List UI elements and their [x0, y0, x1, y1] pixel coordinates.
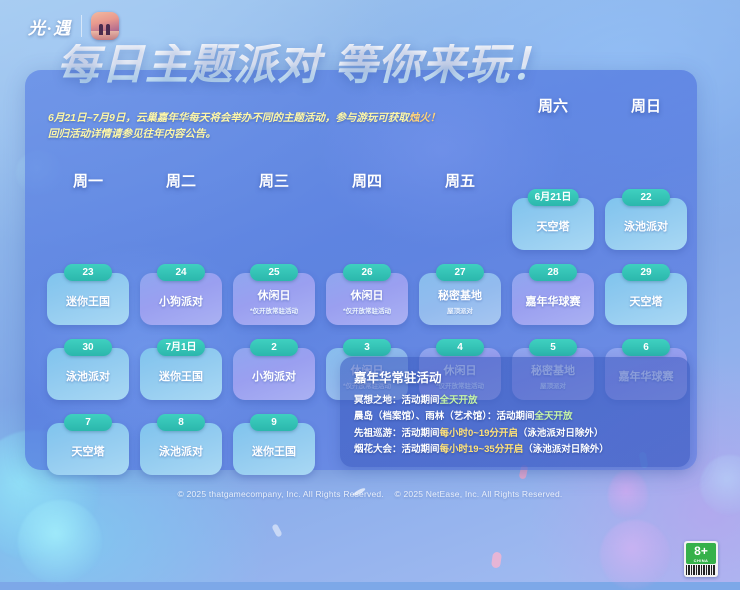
event-card[interactable]: 9迷你王国	[233, 423, 315, 475]
weekday-label-4: 周四	[326, 170, 408, 191]
light-streak	[271, 523, 282, 537]
weekday-label-7: 周日	[605, 95, 687, 116]
permanent-activities-title: 嘉年华常驻活动	[354, 367, 676, 386]
date-badge: 7月1日	[157, 339, 205, 356]
event-card[interactable]: 6月21日天空塔	[512, 198, 594, 250]
permanent-activities-list: 冥想之地：活动期间全天开放晨岛（档案馆）、雨林（艺术馆）：活动期间全天开放先祖巡…	[354, 393, 676, 458]
weekday-label-3: 周三	[233, 170, 315, 191]
event-title: 天空塔	[72, 446, 105, 459]
calendar-cell[interactable]: 7月1日迷你王国	[140, 348, 222, 400]
rating-green-block: 8+ CHINA	[686, 543, 716, 564]
event-card[interactable]: 28嘉年华球赛	[512, 273, 594, 325]
event-card[interactable]: 7月1日迷你王国	[140, 348, 222, 400]
logo-divider	[81, 15, 82, 37]
date-badge: 7	[64, 414, 112, 431]
description-line-2: 回归活动详情请参见往年内容公告。	[48, 126, 478, 142]
description-highlight: 烛火！	[409, 112, 441, 124]
date-badge: 22	[622, 189, 670, 206]
event-title: 休闲日	[258, 290, 291, 303]
event-subtitle: *仅开放常驻活动	[343, 305, 391, 315]
event-title: 迷你王国	[159, 371, 203, 384]
calendar-cell[interactable]: 26休闲日*仅开放常驻活动	[326, 273, 408, 325]
event-title: 天空塔	[630, 296, 663, 309]
game-logo[interactable]: 光·遇	[28, 14, 72, 39]
event-card[interactable]: 8泳池派对	[140, 423, 222, 475]
event-title: 天空塔	[537, 221, 570, 234]
calendar-cell[interactable]: 28嘉年华球赛	[512, 273, 594, 325]
event-title: 泳池派对	[624, 221, 668, 234]
date-badge: 25	[250, 264, 298, 281]
bokeh-orb	[700, 455, 740, 515]
event-card[interactable]: 30泳池派对	[47, 348, 129, 400]
activity-label: 先祖巡游：活动期间	[354, 428, 440, 439]
date-badge: 4	[436, 339, 484, 356]
event-card[interactable]: 25休闲日*仅开放常驻活动	[233, 273, 315, 325]
event-description: 6月21日~7月9日，云巢嘉年华每天将会举办不同的主题活动，参与游玩可获取烛火！…	[48, 110, 478, 143]
icon-figure	[99, 24, 103, 35]
event-card[interactable]: 7天空塔	[47, 423, 129, 475]
rating-barcode-icon	[686, 565, 716, 575]
age-rating-badge: 8+ CHINA	[684, 541, 718, 577]
rating-region-label: CHINA	[694, 558, 709, 563]
permanent-activity-row: 冥想之地：活动期间全天开放	[354, 393, 676, 409]
copyright-thatgamecompany: © 2025 thatgamecompany, Inc. All Rights …	[178, 489, 384, 499]
activity-schedule-highlight: 每小时0~19分开启	[440, 428, 518, 439]
date-badge: 2	[250, 339, 298, 356]
rating-age-label: 8+	[694, 545, 708, 557]
activity-label: 冥想之地：活动期间	[354, 395, 440, 406]
light-streak	[491, 551, 502, 568]
weekday-label-2: 周二	[140, 170, 222, 191]
calendar-cell[interactable]: 25休闲日*仅开放常驻活动	[233, 273, 315, 325]
event-title: 迷你王国	[66, 296, 110, 309]
calendar-cell[interactable]: 23迷你王国	[47, 273, 129, 325]
calendar-cell[interactable]: 6月21日天空塔	[512, 198, 594, 250]
event-title: 秘密基地	[438, 290, 482, 303]
date-badge: 28	[529, 264, 577, 281]
calendar-cell[interactable]: 24小狗派对	[140, 273, 222, 325]
icon-glow	[91, 31, 119, 40]
calendar-cell[interactable]: 2小狗派对	[233, 348, 315, 400]
calendar-cell[interactable]: 9迷你王国	[233, 423, 315, 475]
event-card[interactable]: 2小狗派对	[233, 348, 315, 400]
event-card[interactable]: 22泳池派对	[605, 198, 687, 250]
event-title: 泳池派对	[159, 446, 203, 459]
date-badge: 23	[64, 264, 112, 281]
icon-figure	[106, 24, 110, 35]
calendar-cell[interactable]: 8泳池派对	[140, 423, 222, 475]
calendar-cell[interactable]: 22泳池派对	[605, 198, 687, 250]
event-card[interactable]: 26休闲日*仅开放常驻活动	[326, 273, 408, 325]
permanent-activity-row: 晨岛（档案馆）、雨林（艺术馆）：活动期间全天开放	[354, 409, 676, 425]
activity-schedule-highlight: 全天开放	[535, 411, 573, 422]
date-badge: 9	[250, 414, 298, 431]
weekday-label-5: 周五	[419, 170, 501, 191]
date-badge: 6月21日	[528, 189, 579, 206]
date-badge: 26	[343, 264, 391, 281]
activity-label: 晨岛（档案馆）、雨林（艺术馆）：活动期间	[354, 411, 535, 422]
event-card[interactable]: 23迷你王国	[47, 273, 129, 325]
bokeh-orb	[18, 500, 102, 584]
event-title: 嘉年华球赛	[526, 296, 581, 309]
date-badge: 30	[64, 339, 112, 356]
calendar-cell[interactable]: 27秘密基地屋顶派对	[419, 273, 501, 325]
date-badge: 3	[343, 339, 391, 356]
brand-header: 光·遇	[28, 10, 119, 42]
event-title: 休闲日	[351, 290, 384, 303]
activity-label: 烟花大会：活动期间	[354, 444, 440, 455]
description-text: 6月21日~7月9日，云巢嘉年华每天将会举办不同的主题活动，参与游玩可获取	[48, 112, 409, 124]
event-subtitle: 屋顶派对	[447, 305, 473, 315]
event-title: 泳池派对	[66, 371, 110, 384]
event-title: 小狗派对	[159, 296, 203, 309]
event-card[interactable]: 29天空塔	[605, 273, 687, 325]
date-badge: 27	[436, 264, 484, 281]
activity-schedule-highlight: 全天开放	[440, 395, 478, 406]
copyright-netease: © 2025 NetEase, Inc. All Rights Reserved…	[394, 489, 562, 499]
permanent-activity-row: 烟花大会：活动期间每小时19~35分开启（泳池派对日除外）	[354, 442, 676, 458]
weekday-label-6: 周六	[512, 95, 594, 116]
description-line-1: 6月21日~7月9日，云巢嘉年华每天将会举办不同的主题活动，参与游玩可获取烛火！	[48, 110, 478, 126]
calendar-cell[interactable]: 29天空塔	[605, 273, 687, 325]
permanent-activity-row: 先祖巡游：活动期间每小时0~19分开启（泳池派对日除外）	[354, 426, 676, 442]
date-badge: 5	[529, 339, 577, 356]
date-badge: 24	[157, 264, 205, 281]
footer-copyright: © 2025 thatgamecompany, Inc. All Rights …	[0, 489, 740, 499]
activity-schedule-highlight: 每小时19~35分开启	[440, 444, 524, 455]
bokeh-orb	[600, 520, 670, 590]
activity-note: （泳池派对日除外）	[523, 444, 609, 455]
sky-app-icon[interactable]	[91, 12, 119, 40]
event-subtitle: *仅开放常驻活动	[250, 305, 298, 315]
event-title: 小狗派对	[252, 371, 296, 384]
activity-note: （泳池派对日除外）	[518, 428, 604, 439]
page-title: 每日主题派对 等你来玩！	[57, 44, 657, 87]
date-badge: 6	[622, 339, 670, 356]
permanent-activities-panel: 嘉年华常驻活动 冥想之地：活动期间全天开放晨岛（档案馆）、雨林（艺术馆）：活动期…	[340, 357, 690, 467]
date-badge: 29	[622, 264, 670, 281]
date-badge: 8	[157, 414, 205, 431]
calendar-cell[interactable]: 7天空塔	[47, 423, 129, 475]
event-card[interactable]: 24小狗派对	[140, 273, 222, 325]
event-card[interactable]: 27秘密基地屋顶派对	[419, 273, 501, 325]
calendar-cell[interactable]: 30泳池派对	[47, 348, 129, 400]
event-title: 迷你王国	[252, 446, 296, 459]
weekday-label-1: 周一	[47, 170, 129, 191]
